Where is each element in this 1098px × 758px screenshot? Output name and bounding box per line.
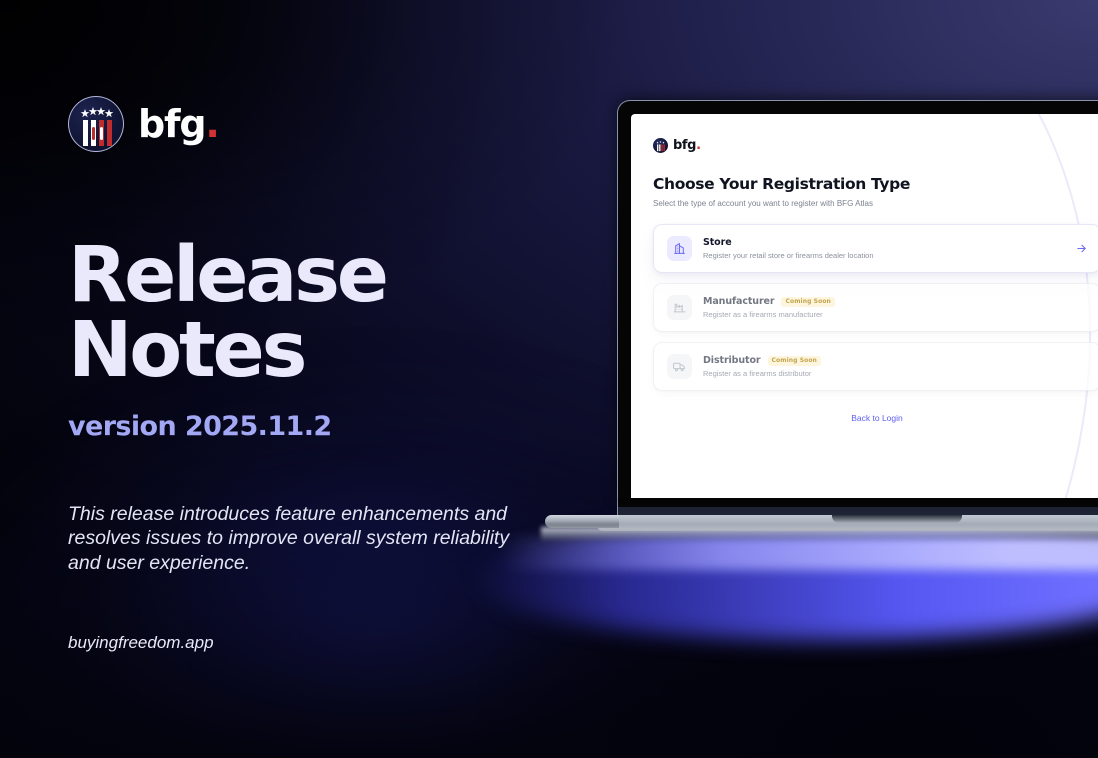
laptop-base-notch [832,515,962,523]
card-description: Register as a firearms manufacturer [703,310,1087,319]
registration-card-manufacturer: Manufacturer Coming Soon Register as a f… [653,283,1098,332]
card-title: Manufacturer [703,296,774,307]
laptop-underglow-highlight [500,536,1098,570]
card-body: Distributor Coming Soon Register as a fi… [703,355,1087,378]
laptop-mockup: bfg. Choose Your Registration Type Selec… [617,100,1098,531]
app-brand-lockup: bfg. [653,138,1098,153]
card-title-row: Store [703,237,1065,248]
card-description: Register as a firearms distributor [703,369,1087,378]
card-body: Store Register your retail store or fire… [703,237,1065,260]
release-description: This release introduces feature enhancem… [68,502,518,575]
registration-card-store[interactable]: Store Register your retail store or fire… [653,224,1098,273]
status-badge: Coming Soon [781,297,834,307]
site-url: buyingfreedom.app [68,633,588,653]
laptop-base [597,515,1098,531]
card-body: Manufacturer Coming Soon Register as a f… [703,296,1087,319]
app-brand-wordmark: bfg. [673,138,701,153]
brand-wordmark: bfg. [138,105,219,143]
registration-card-distributor: Distributor Coming Soon Register as a fi… [653,342,1098,391]
laptop-bezel-bottom [617,498,1098,515]
registration-type-list: Store Register your retail store or fire… [653,224,1098,391]
app-subheading: Select the type of account you want to r… [653,199,1098,208]
laptop-base-edge [541,527,1098,541]
brand-wordmark-text: bfg [138,102,205,146]
laptop-screen: bfg. Choose Your Registration Type Selec… [631,114,1098,498]
card-title-row: Distributor Coming Soon [703,355,1087,366]
card-title: Store [703,237,732,248]
brand-dot: . [205,102,218,146]
app-heading: Choose Your Registration Type [653,175,1098,193]
card-description: Register your retail store or firearms d… [703,251,1065,260]
brand-lockup: bfg. [68,96,588,152]
bfg-flag-badge-icon-small [653,138,668,153]
app-brand-text: bfg [673,138,696,153]
registration-app: bfg. Choose Your Registration Type Selec… [631,114,1098,423]
status-badge: Coming Soon [768,356,821,366]
building-store-icon [667,236,692,261]
version-label: version 2025.11.2 [68,411,588,442]
truck-delivery-icon [667,354,692,379]
card-title-row: Manufacturer Coming Soon [703,296,1087,307]
card-title: Distributor [703,355,761,366]
back-to-login-link[interactable]: Back to Login [653,413,1098,423]
hero-panel: bfg. Release Notes version 2025.11.2 Thi… [68,96,588,653]
app-brand-dot: . [696,138,701,153]
bfg-flag-badge-icon [68,96,124,152]
factory-icon [667,295,692,320]
laptop-lid: bfg. Choose Your Registration Type Selec… [617,100,1098,498]
arrow-right-icon[interactable] [1076,243,1087,254]
page-title: Release Notes [68,238,588,389]
